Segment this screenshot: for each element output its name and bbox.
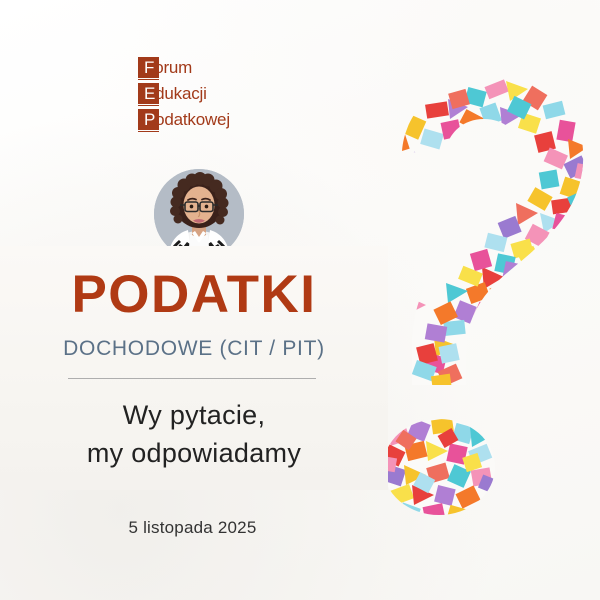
logo-line-edukacji: Edukacji bbox=[138, 82, 268, 106]
poster-canvas: Forum Edukacji Podatkowej bbox=[0, 0, 600, 600]
logo-text-podatkowej: Podatkowej bbox=[144, 108, 230, 132]
tagline-line-1: Wy pytacie, bbox=[123, 400, 266, 430]
logo-line-podatkowej: Podatkowej bbox=[138, 108, 268, 132]
logo-line-forum: Forum bbox=[138, 56, 268, 80]
page-title: PODATKI bbox=[0, 268, 388, 321]
logo-text-forum: Forum bbox=[144, 56, 192, 80]
title-divider bbox=[68, 378, 316, 379]
tagline-line-2: my odpowiadamy bbox=[0, 434, 388, 472]
page-subtitle: DOCHODOWE (CIT / PIT) bbox=[0, 337, 388, 361]
logo-rest-forum: orum bbox=[154, 58, 192, 77]
logo-cap-p: P bbox=[144, 110, 155, 129]
question-mark-dot bbox=[370, 410, 520, 525]
forum-edukacji-podatkowej-logo[interactable]: Forum Edukacji Podatkowej bbox=[138, 56, 268, 134]
logo-rest-edukacji: dukacji bbox=[155, 84, 207, 103]
logo-cap-e: E bbox=[144, 84, 155, 103]
logo-text-edukacji: Edukacji bbox=[144, 82, 207, 106]
logo-rest-podatkowej: odatkowej bbox=[155, 110, 230, 129]
tagline: Wy pytacie, my odpowiadamy bbox=[0, 396, 388, 473]
logo-cap-f: F bbox=[144, 58, 154, 77]
event-date: 5 listopada 2025 bbox=[0, 518, 385, 538]
